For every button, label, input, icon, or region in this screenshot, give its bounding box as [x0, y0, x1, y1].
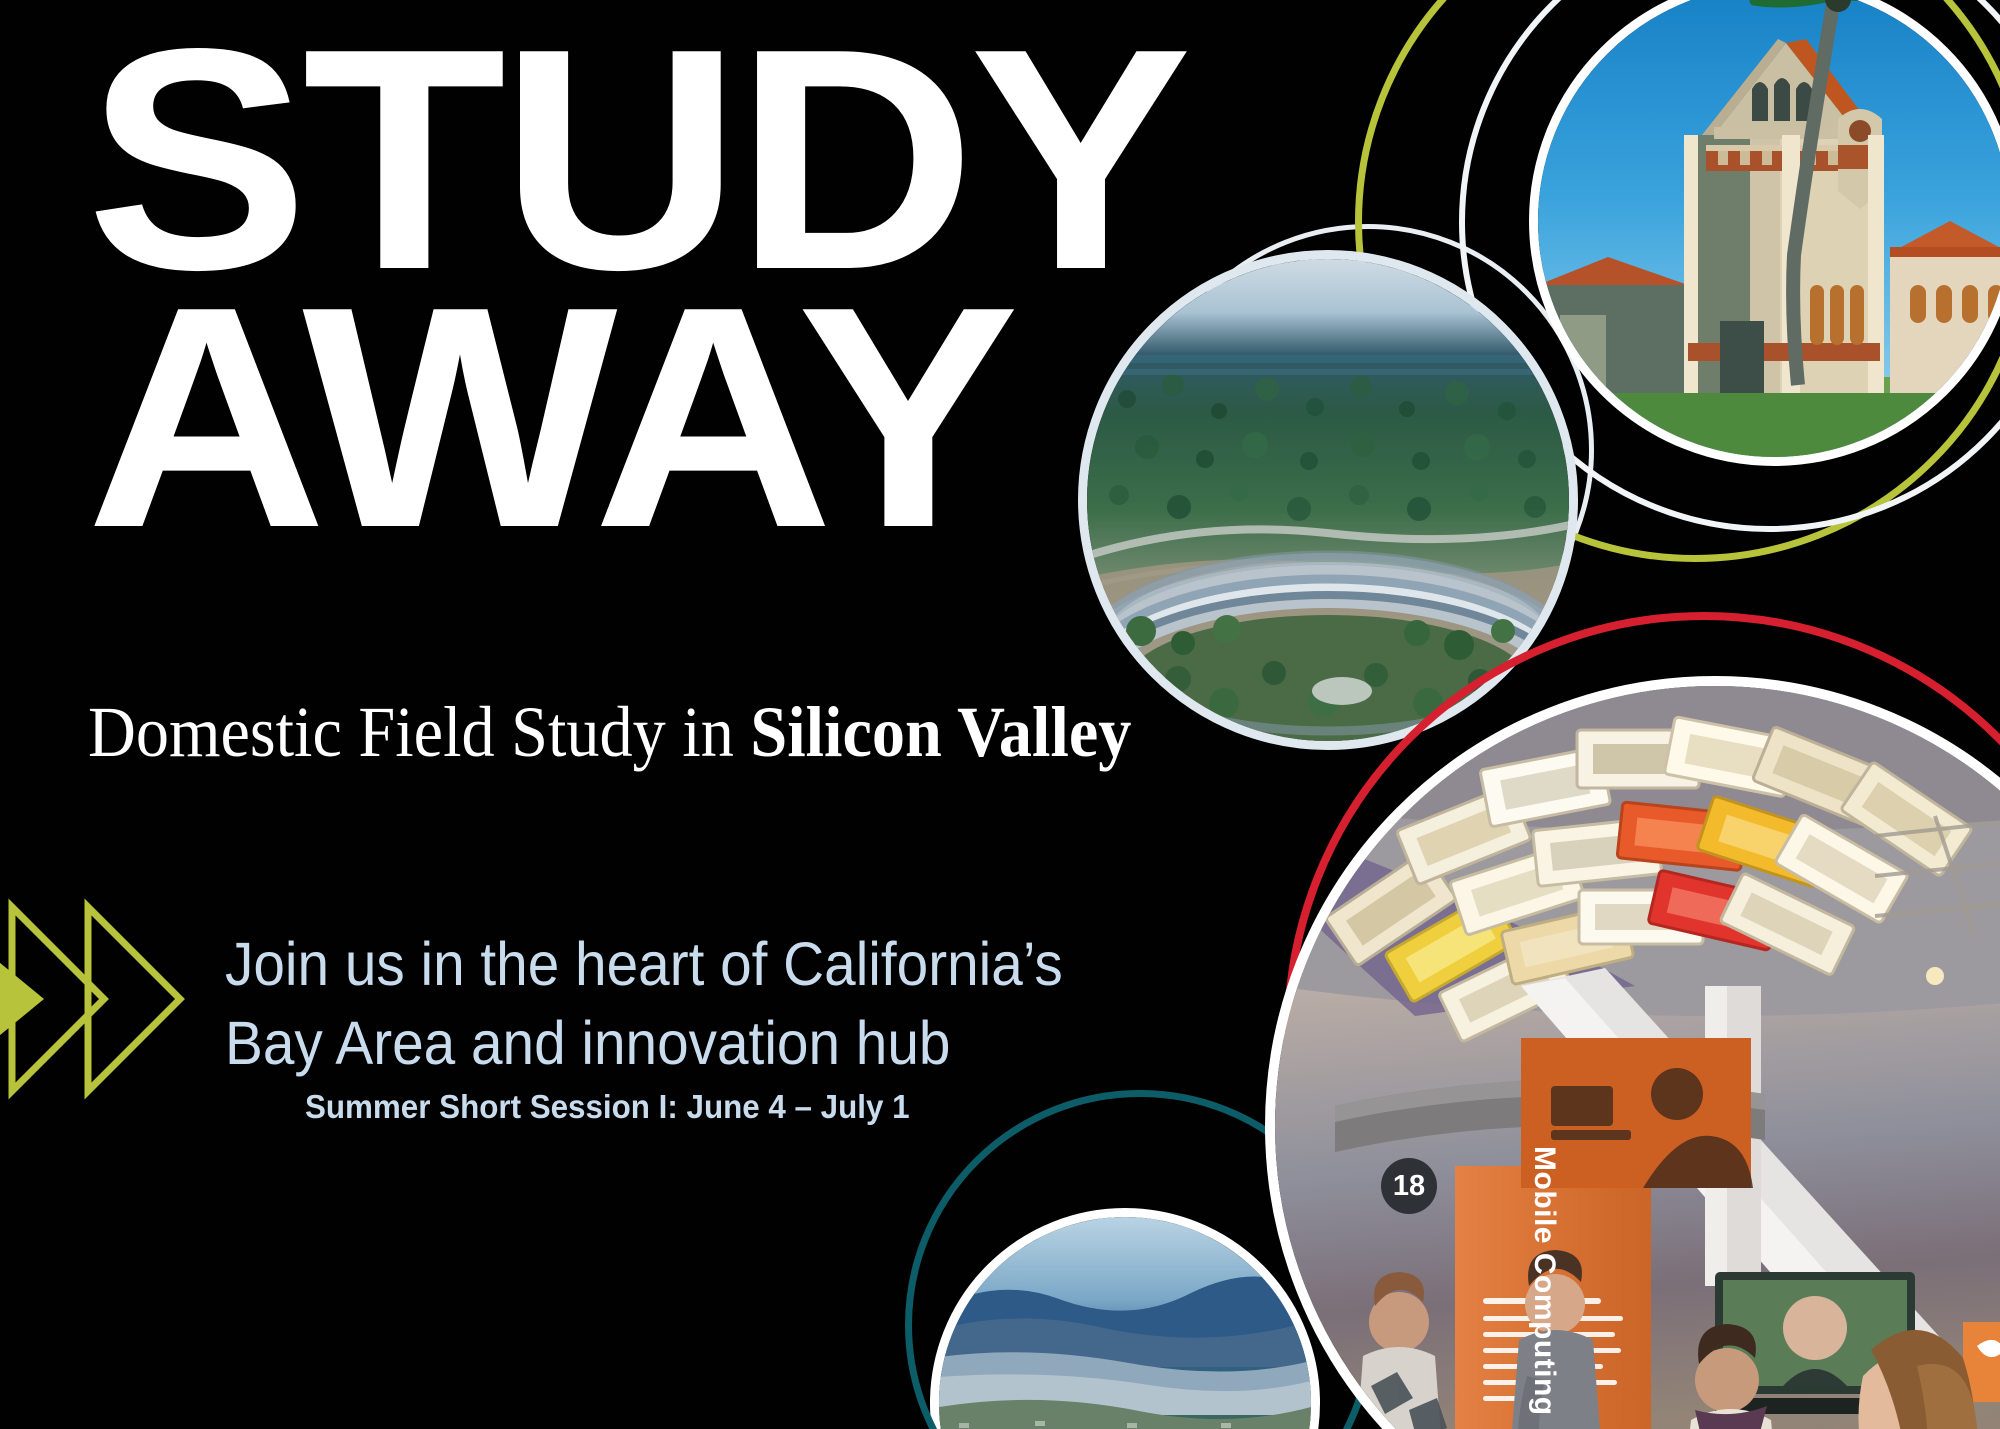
exhibit-number-badge: 18: [1381, 1158, 1437, 1214]
page-title: STUDY AWAY: [86, 30, 1146, 547]
subtitle-prefix: Domestic Field Study in: [88, 692, 750, 772]
poster-subtitle: Domestic Field Study in Silicon Valley: [88, 696, 1131, 768]
poster-canvas: 18 Mobile Computing STUDY AWAY Domestic …: [0, 0, 2000, 1429]
poster-body-block: Join us in the heart of California’s Bay…: [225, 925, 1126, 1126]
subtitle-emphasis: Silicon Valley: [750, 692, 1131, 772]
exhibit-title-label: Mobile Computing: [1527, 1146, 1561, 1416]
body-line-1: Join us in the heart of California’s: [225, 925, 1063, 1004]
session-dates: Summer Short Session I: June 4 – July 1: [305, 1088, 1085, 1126]
photo-tech-museum-interior: 18 Mobile Computing: [1265, 676, 2000, 1429]
body-line-2: Bay Area and innovation hub: [225, 1004, 1063, 1083]
triple-chevron-arrow-icon: [0, 895, 202, 1105]
photo-sjsu-tower-hall: [1529, 0, 2000, 466]
headline-line-2: AWAY: [86, 288, 1146, 546]
